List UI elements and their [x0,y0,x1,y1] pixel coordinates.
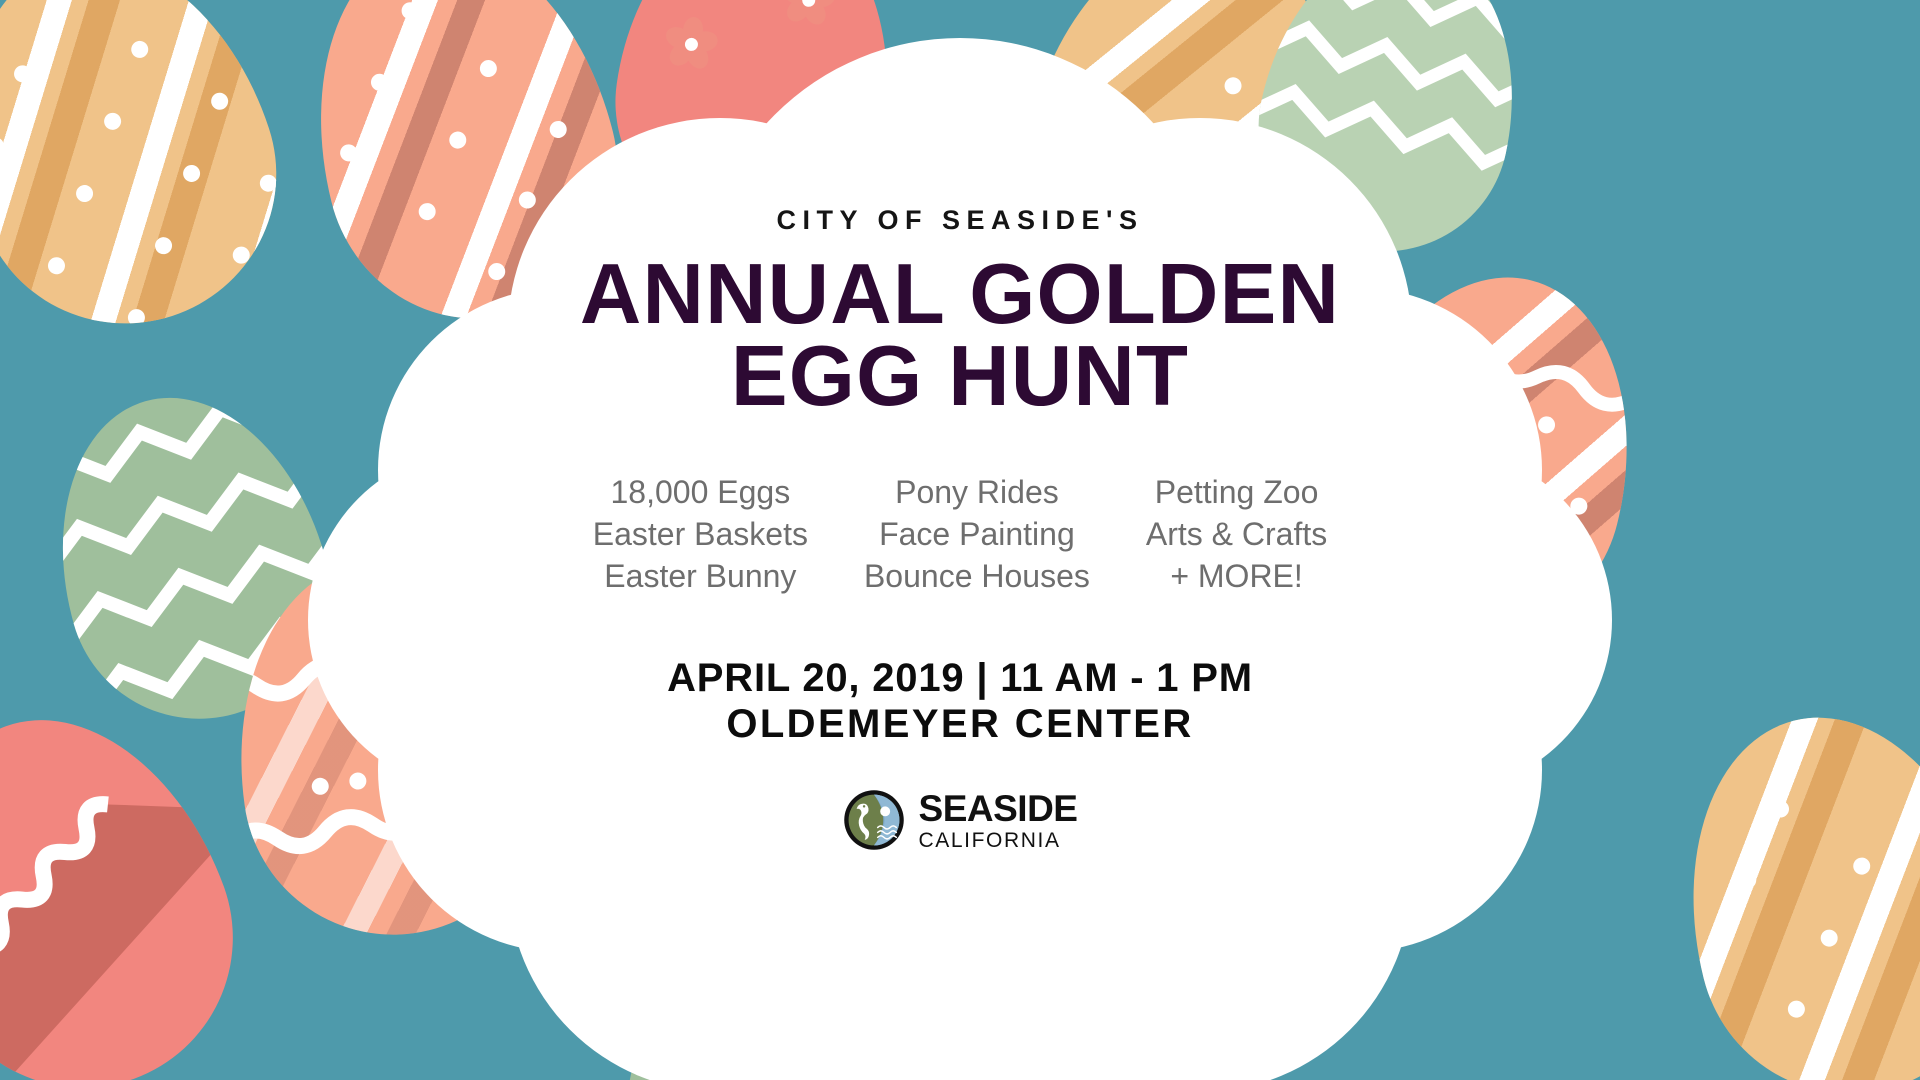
feature-item: Easter Bunny [593,555,808,597]
feature-item: Easter Baskets [593,513,808,555]
feature-column-1: 18,000 Eggs Easter Baskets Easter Bunny [593,471,808,598]
seaside-logo: SEASIDE CALIFORNIA [530,789,1390,851]
logo-text: SEASIDE CALIFORNIA [919,790,1078,851]
poster-content: CITY OF SEASIDE'S ANNUAL GOLDEN EGG HUNT… [530,0,1390,851]
feature-column-2: Pony Rides Face Painting Bounce Houses [864,471,1090,598]
feature-list: 18,000 Eggs Easter Baskets Easter Bunny … [530,471,1390,598]
feature-item: Face Painting [864,513,1090,555]
title-line-2: EGG HUNT [731,329,1189,424]
feature-item: Petting Zoo [1146,471,1327,513]
event-venue: OLDEMEYER CENTER [530,702,1390,747]
event-datetime: APRIL 20, 2019 | 11 AM - 1 PM [530,654,1390,703]
logo-name: SEASIDE [919,790,1078,827]
kicker-text: CITY OF SEASIDE'S [530,205,1390,236]
feature-item: Arts & Crafts [1146,513,1327,555]
logo-subtitle: CALIFORNIA [919,830,1078,851]
feature-item: Bounce Houses [864,555,1090,597]
title-line-1: ANNUAL GOLDEN [580,247,1340,342]
page-title: ANNUAL GOLDEN EGG HUNT [530,254,1390,419]
poster-canvas: CITY OF SEASIDE'S ANNUAL GOLDEN EGG HUNT… [0,0,1920,1080]
seaside-emblem-icon [843,789,905,851]
feature-item: Pony Rides [864,471,1090,513]
feature-item: + MORE! [1146,555,1327,597]
feature-column-3: Petting Zoo Arts & Crafts + MORE! [1146,471,1327,598]
feature-item: 18,000 Eggs [593,471,808,513]
